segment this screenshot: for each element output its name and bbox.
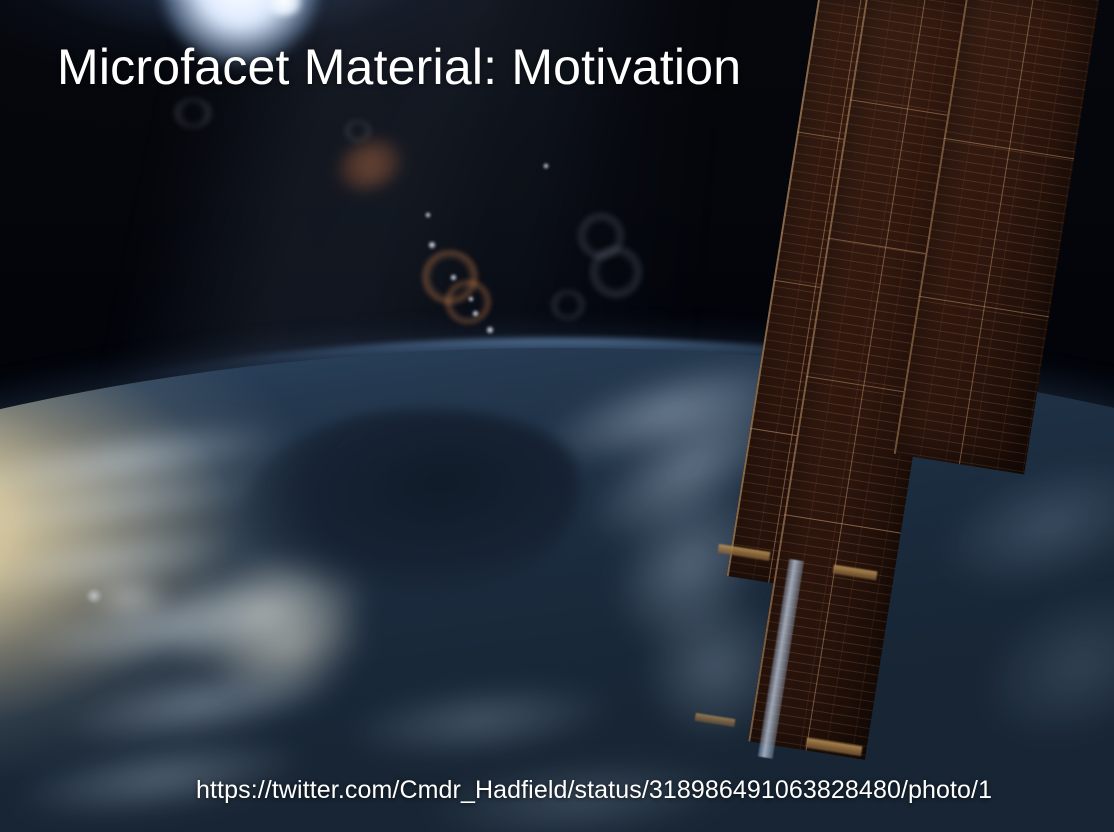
source-url-caption: https://twitter.com/Cmdr_Hadfield/status… — [196, 776, 992, 805]
background-photo — [0, 0, 1114, 832]
presentation-slide: Microfacet Material: Motivation https://… — [0, 0, 1114, 832]
slide-title: Microfacet Material: Motivation — [57, 38, 741, 96]
